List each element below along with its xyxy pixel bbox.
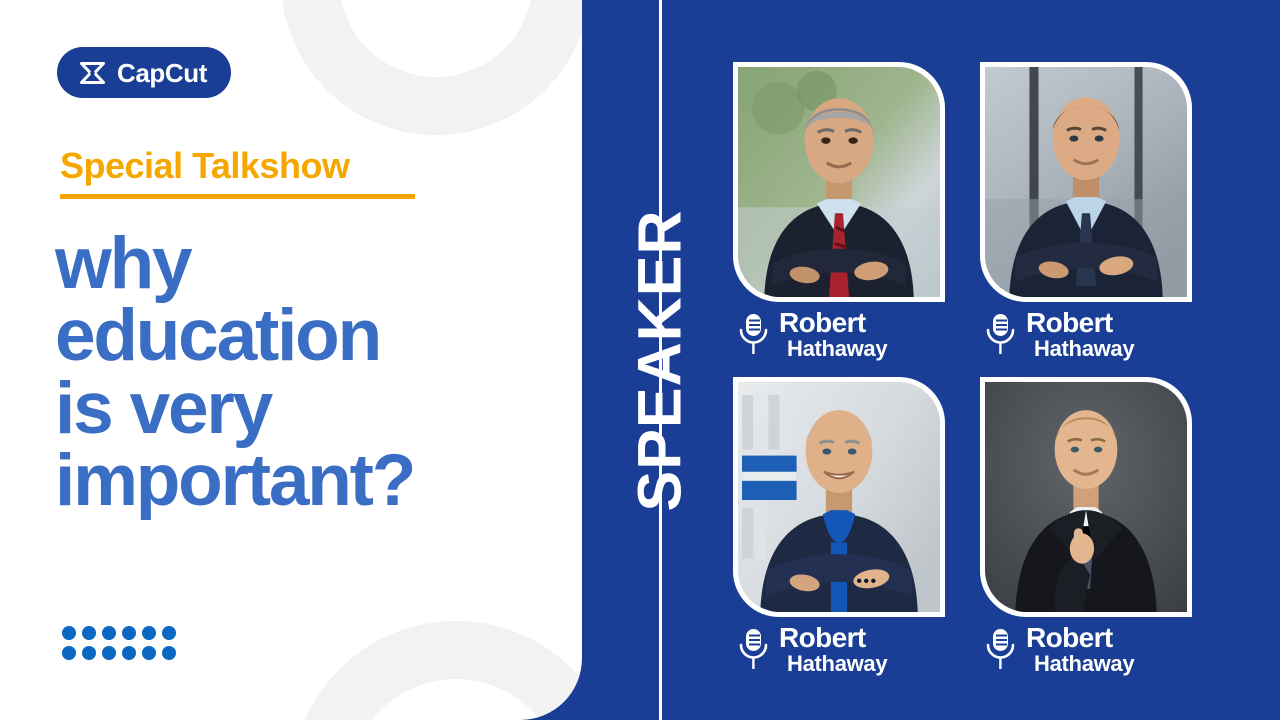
decorative-ring-bottom	[291, 621, 582, 720]
dot	[142, 646, 156, 660]
speaker-card-grid: Robert Hathaway	[733, 62, 1203, 687]
speaker-card-4[interactable]: Robert Hathaway	[980, 377, 1192, 627]
speaker-last-name: Hathaway	[1026, 337, 1134, 362]
speaker-vertical-heading: SPEAKER	[604, 225, 716, 495]
speaker-photo-frame-4	[980, 377, 1192, 617]
speaker-name-4: Robert Hathaway	[1026, 623, 1134, 677]
poster-canvas: CapCut Special Talkshow why education is…	[0, 0, 1280, 720]
speaker-photo-4	[985, 382, 1187, 612]
headline-line-2: education	[55, 300, 555, 372]
microphone-icon	[738, 627, 768, 671]
speaker-card-2[interactable]: Robert Hathaway	[980, 62, 1192, 312]
speaker-first-name: Robert	[779, 308, 887, 337]
dot	[82, 646, 96, 660]
capcut-logo-icon	[79, 62, 106, 84]
dot	[122, 626, 136, 640]
page-title: why education is very important?	[55, 228, 555, 517]
decorative-dot-grid	[62, 626, 176, 660]
speaker-photo-frame-2	[980, 62, 1192, 302]
speaker-name-row-3: Robert Hathaway	[738, 623, 968, 677]
speaker-card-1[interactable]: Robert Hathaway	[733, 62, 945, 312]
dot	[162, 626, 176, 640]
speaker-name-3: Robert Hathaway	[779, 623, 887, 677]
speaker-last-name: Hathaway	[779, 337, 887, 362]
dot	[82, 626, 96, 640]
speaker-photo-2	[985, 67, 1187, 297]
eyebrow-group: Special Talkshow	[60, 146, 415, 199]
speaker-first-name: Robert	[1026, 623, 1134, 652]
speaker-name-row-1: Robert Hathaway	[738, 308, 968, 362]
speaker-card-3[interactable]: Robert Hathaway	[733, 377, 945, 627]
dot	[142, 626, 156, 640]
microphone-icon	[985, 627, 1015, 671]
dot	[62, 626, 76, 640]
capcut-logo-badge[interactable]: CapCut	[57, 47, 231, 98]
speaker-photo-1	[738, 67, 940, 297]
speaker-last-name: Hathaway	[1026, 652, 1134, 677]
dot	[102, 646, 116, 660]
eyebrow-underline	[60, 194, 415, 199]
speaker-photo-frame-1	[733, 62, 945, 302]
speaker-name-1: Robert Hathaway	[779, 308, 887, 362]
eyebrow-label: Special Talkshow	[60, 146, 415, 186]
speaker-first-name: Robert	[779, 623, 887, 652]
speaker-photo-3	[738, 382, 940, 612]
speaker-photo-frame-3	[733, 377, 945, 617]
speaker-last-name: Hathaway	[779, 652, 887, 677]
dot	[122, 646, 136, 660]
speaker-vertical-label: SPEAKER	[630, 209, 691, 511]
dot	[162, 646, 176, 660]
headline-line-3: is very	[55, 373, 555, 445]
dot	[102, 626, 116, 640]
dot	[62, 646, 76, 660]
capcut-wordmark: CapCut	[117, 60, 207, 86]
microphone-icon	[985, 312, 1015, 356]
speaker-name-row-4: Robert Hathaway	[985, 623, 1215, 677]
speaker-name-row-2: Robert Hathaway	[985, 308, 1215, 362]
speaker-first-name: Robert	[1026, 308, 1134, 337]
speaker-name-2: Robert Hathaway	[1026, 308, 1134, 362]
headline-line-1: why	[55, 228, 555, 300]
headline-line-4: important?	[55, 445, 555, 517]
decorative-ring-top	[281, 0, 582, 135]
microphone-icon	[738, 312, 768, 356]
